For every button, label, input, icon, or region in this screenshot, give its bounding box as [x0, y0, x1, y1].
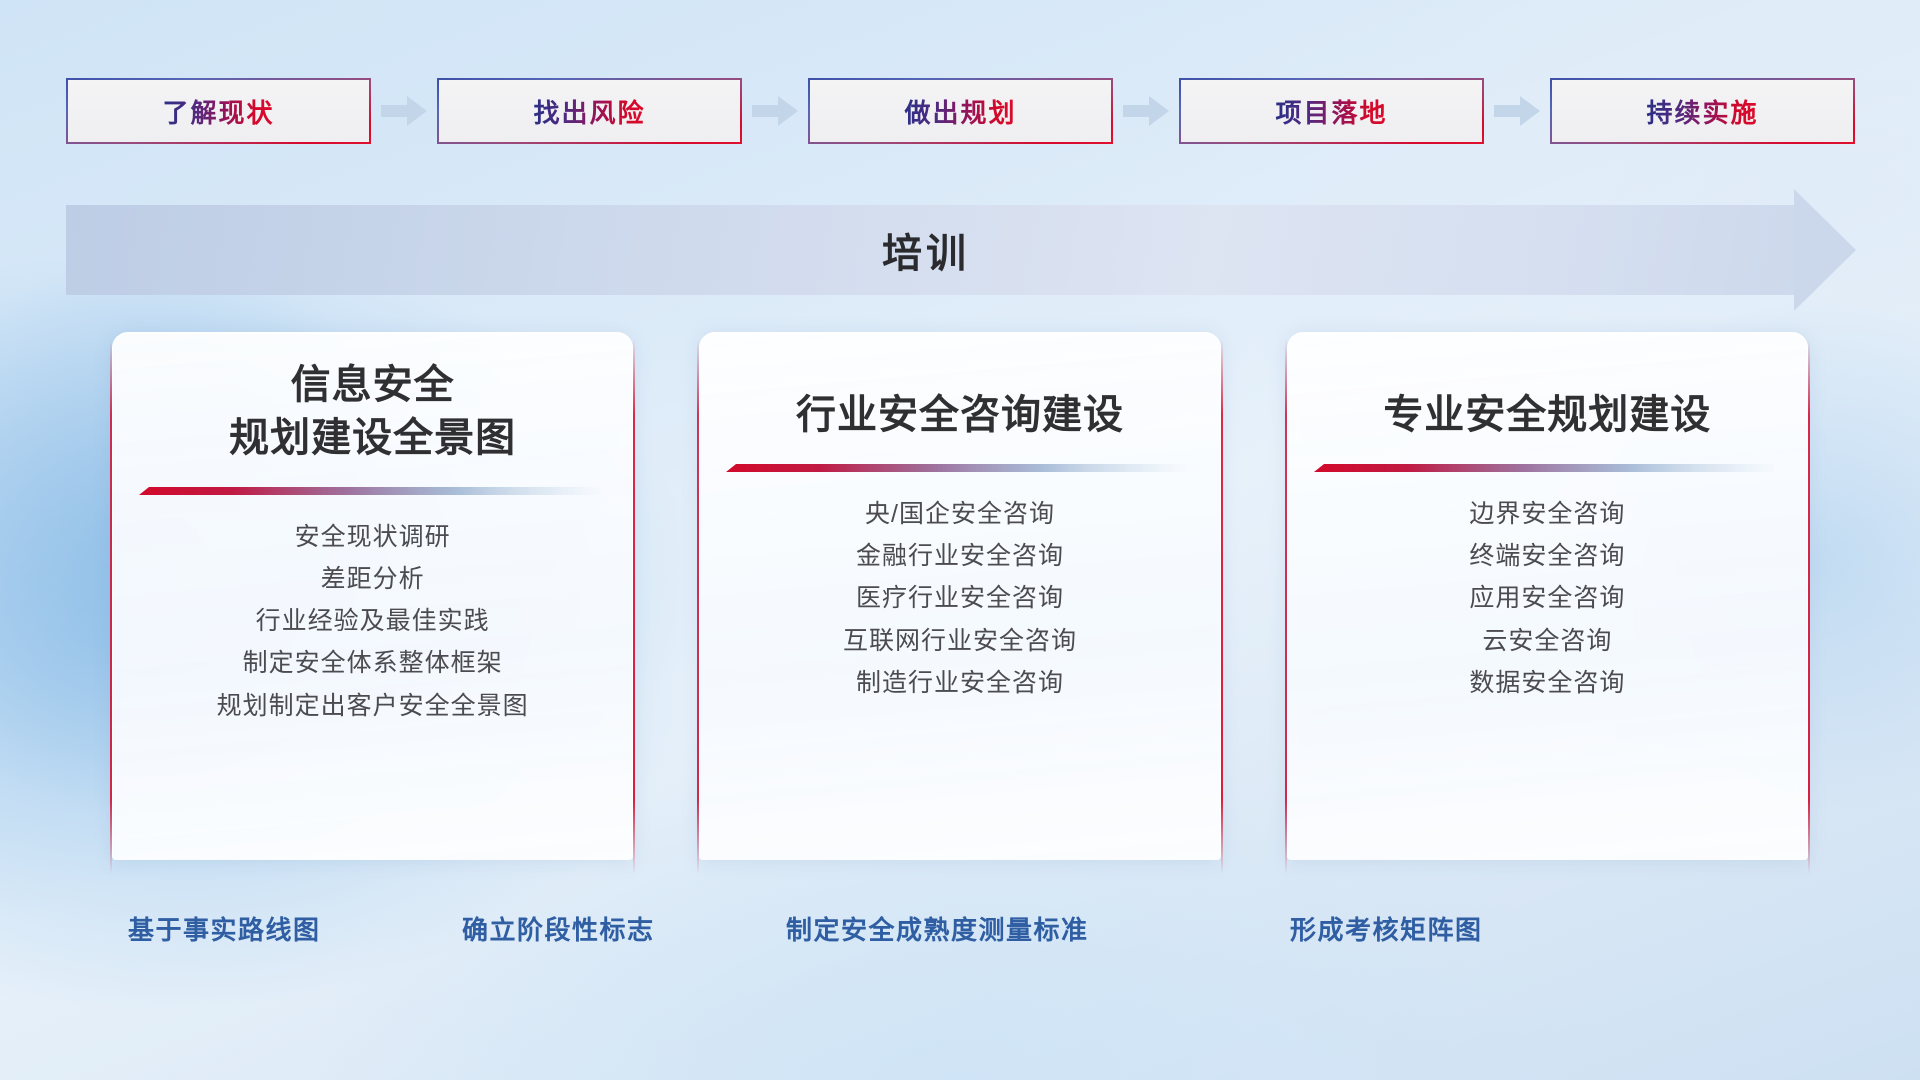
- arrow-right-icon: [371, 96, 437, 126]
- banner-arrow-tip-icon: [1794, 189, 1856, 311]
- card-wrap-2: 专业安全规划建设: [1285, 332, 1810, 874]
- card-item-list: 边界安全咨询 终端安全咨询 应用安全咨询 云安全咨询 数据安全咨询: [1288, 493, 1807, 704]
- list-item: 制定安全体系整体框架: [113, 642, 632, 684]
- card-1[interactable]: 行业安全咨询建设: [699, 332, 1220, 860]
- arrow-right-icon: [742, 96, 808, 126]
- list-item: 数据安全咨询: [1288, 662, 1807, 704]
- card-0[interactable]: 信息安全 规划建设全景图: [112, 332, 633, 860]
- card-title: 信息安全 规划建设全景图: [113, 359, 632, 465]
- list-item: 边界安全咨询: [1288, 493, 1807, 535]
- caption-2: 制定安全成熟度测量标准: [786, 910, 1089, 947]
- card-title: 行业安全咨询建设: [700, 389, 1219, 442]
- list-item: 规划制定出客户安全全景图: [113, 685, 632, 727]
- banner-title: 培训: [66, 205, 1796, 295]
- step-box-0[interactable]: 了解现状: [66, 78, 371, 144]
- list-item: 终端安全咨询: [1288, 535, 1807, 577]
- card-wrap-1: 行业安全咨询建设: [697, 332, 1222, 874]
- step-box-3[interactable]: 项目落地: [1179, 78, 1484, 144]
- training-banner: 培训: [66, 205, 1856, 295]
- step-box-1[interactable]: 找出风险: [437, 78, 742, 144]
- card-title: 专业安全规划建设: [1288, 389, 1807, 442]
- card-divider: [139, 487, 606, 498]
- list-item: 应用安全咨询: [1288, 577, 1807, 619]
- card-divider: [726, 464, 1193, 475]
- arrow-right-icon: [1484, 96, 1550, 126]
- list-item: 央/国企安全咨询: [700, 493, 1219, 535]
- card-wrap-0: 信息安全 规划建设全景图: [110, 332, 635, 874]
- card-item-list: 央/国企安全咨询 金融行业安全咨询 医疗行业安全咨询 互联网行业安全咨询 制造行…: [700, 493, 1219, 704]
- list-item: 云安全咨询: [1288, 620, 1807, 662]
- card-divider: [1314, 464, 1781, 475]
- list-item: 金融行业安全咨询: [700, 535, 1219, 577]
- step-label: 了解现状: [162, 93, 274, 130]
- list-item: 医疗行业安全咨询: [700, 577, 1219, 619]
- step-box-2[interactable]: 做出规划: [808, 78, 1113, 144]
- list-item: 制造行业安全咨询: [700, 662, 1219, 704]
- arrow-right-icon: [1113, 96, 1179, 126]
- caption-1: 确立阶段性标志: [462, 910, 655, 947]
- step-label: 找出风险: [533, 93, 645, 130]
- caption-0: 基于事实路线图: [128, 910, 321, 947]
- card-row: 信息安全 规划建设全景图: [110, 332, 1810, 874]
- list-item: 差距分析: [113, 558, 632, 600]
- process-step-row: 了解现状 找出风险 做出规划 项目落地: [66, 78, 1856, 144]
- list-item: 安全现状调研: [113, 516, 632, 558]
- caption-3: 形成考核矩阵图: [1290, 910, 1483, 947]
- card-item-list: 安全现状调研 差距分析 行业经验及最佳实践 制定安全体系整体框架 规划制定出客户…: [113, 516, 632, 727]
- step-label: 持续实施: [1646, 93, 1758, 130]
- list-item: 行业经验及最佳实践: [113, 600, 632, 642]
- step-box-4[interactable]: 持续实施: [1550, 78, 1855, 144]
- step-label: 项目落地: [1275, 93, 1387, 130]
- caption-row: 基于事实路线图 确立阶段性标志 制定安全成熟度测量标准 形成考核矩阵图: [0, 910, 1920, 956]
- card-2[interactable]: 专业安全规划建设: [1287, 332, 1808, 860]
- slide-canvas: 了解现状 找出风险 做出规划 项目落地: [0, 0, 1920, 1080]
- step-label: 做出规划: [904, 93, 1016, 130]
- list-item: 互联网行业安全咨询: [700, 620, 1219, 662]
